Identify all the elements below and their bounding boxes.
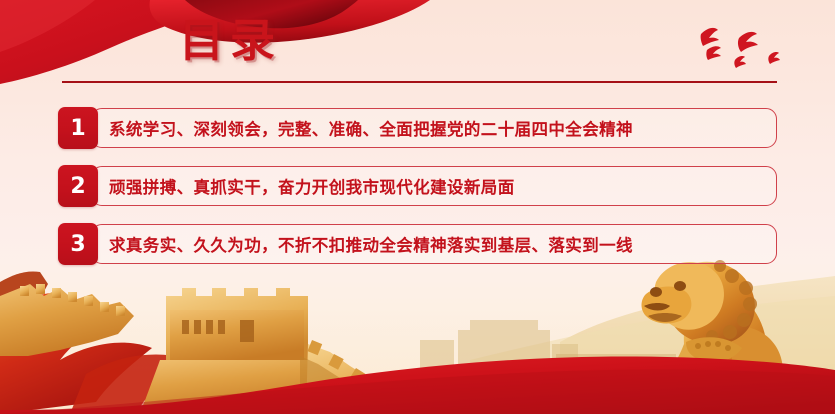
page-title-wrapper: 目录 — [0, 18, 460, 63]
item-text-box[interactable]: 系统学习、深刻领会，完整、准确、全面把握党的二十届四中全会精神 — [91, 108, 777, 148]
title-divider-rule — [62, 81, 777, 83]
item-label: 系统学习、深刻领会，完整、准确、全面把握党的二十届四中全会精神 — [92, 116, 643, 140]
item-label: 顽强拼搏、真抓实干，奋力开创我市现代化建设新局面 — [92, 174, 525, 198]
item-number-badge: 2 — [58, 165, 98, 207]
red-wave-band — [0, 356, 835, 414]
item-number-badge: 3 — [58, 223, 98, 265]
item-label: 求真务实、久久为功，不折不扣推动全会精神落实到基层、落实到一线 — [92, 232, 643, 256]
golden-guardian-lion-statue — [638, 260, 794, 414]
list-item[interactable]: 2 顽强拼搏、真抓实干，奋力开创我市现代化建设新局面 — [58, 165, 777, 207]
item-number-badge: 1 — [58, 107, 98, 149]
flying-birds-flock — [687, 22, 797, 74]
list-item[interactable]: 3 求真务实、久久为功，不折不扣推动全会精神落实到基层、落实到一线 — [58, 223, 777, 265]
table-of-contents: 1 系统学习、深刻领会，完整、准确、全面把握党的二十届四中全会精神 2 顽强拼搏… — [58, 107, 777, 281]
presentation-slide: 目录 1 系统学习、深刻领会，完整、准确、全面把握党的二十届四中全会精神 2 顽… — [0, 0, 835, 414]
page-title: 目录 — [179, 18, 281, 63]
item-text-box[interactable]: 求真务实、久久为功，不折不扣推动全会精神落实到基层、落实到一线 — [91, 224, 777, 264]
item-text-box[interactable]: 顽强拼搏、真抓实干，奋力开创我市现代化建设新局面 — [91, 166, 777, 206]
list-item[interactable]: 1 系统学习、深刻领会，完整、准确、全面把握党的二十届四中全会精神 — [58, 107, 777, 149]
